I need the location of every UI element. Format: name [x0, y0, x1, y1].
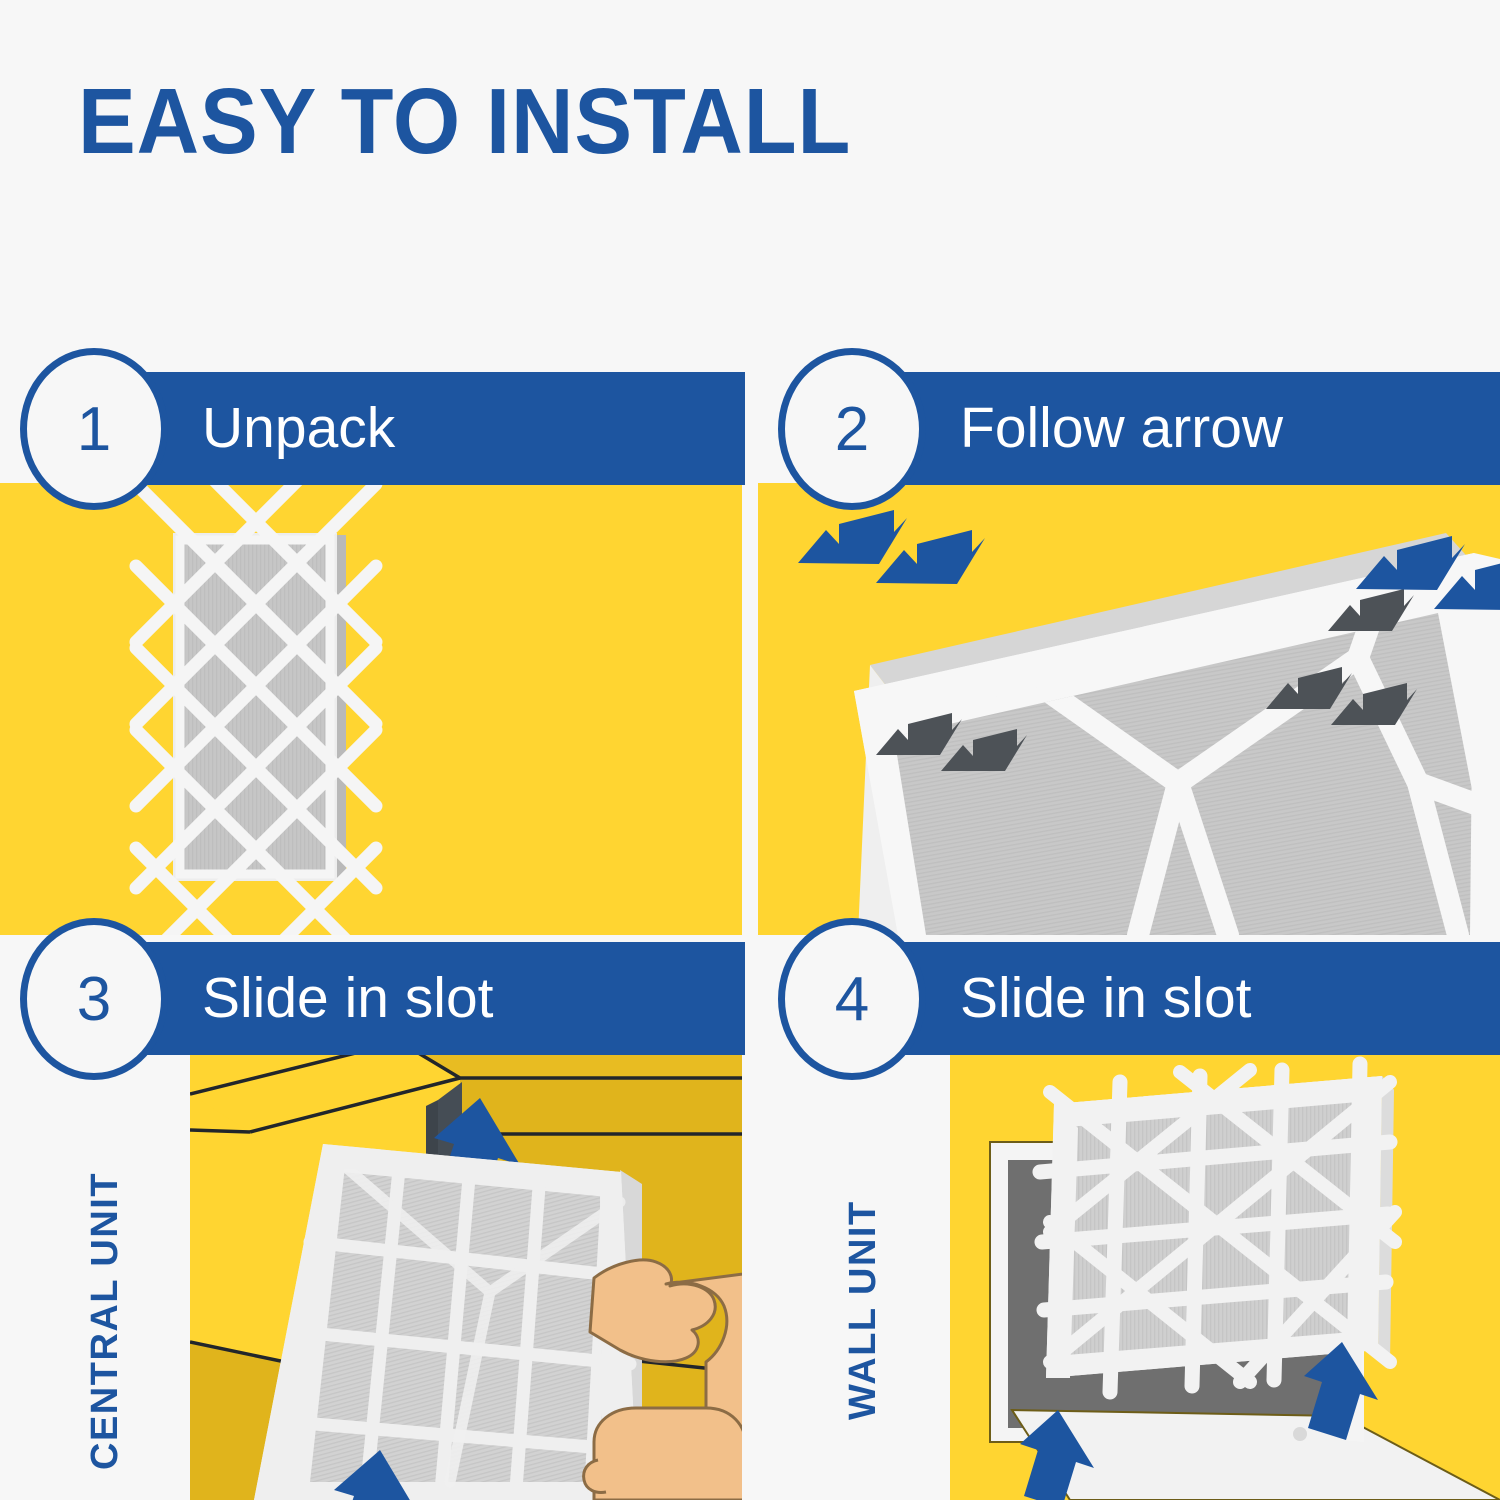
step-4-unit-label: WALL UNIT	[842, 1200, 885, 1420]
wall-unit-svg	[950, 1042, 1500, 1500]
step-3-label: Slide in slot	[202, 970, 494, 1027]
step-1-number: 1	[77, 394, 111, 465]
step-4-header-bar: Slide in slot	[836, 942, 1500, 1055]
step-1-number-badge: 1	[20, 348, 168, 510]
step-4-number: 4	[835, 964, 869, 1035]
central-unit-svg	[190, 1042, 742, 1500]
step-1-label: Unpack	[202, 400, 395, 457]
step-3-illustration	[190, 1042, 742, 1500]
step-2-label: Follow arrow	[960, 400, 1283, 457]
step-4-illustration	[950, 1042, 1500, 1500]
step-3-number: 3	[77, 964, 111, 1035]
step-2-header-bar: Follow arrow	[836, 372, 1500, 485]
hand-lower	[584, 1408, 742, 1500]
step-4-label: Slide in slot	[960, 970, 1252, 1027]
step-3-number-badge: 3	[20, 918, 168, 1080]
step-2-number: 2	[835, 394, 869, 465]
step-2-illustration	[758, 483, 1500, 935]
step-1-illustration	[0, 483, 742, 935]
step-1-header-bar: Unpack	[78, 372, 745, 485]
blue-airflow-arrow-left	[798, 510, 985, 584]
step-4-number-badge: 4	[778, 918, 926, 1080]
step-2-number-badge: 2	[778, 348, 926, 510]
step-3-header-bar: Slide in slot	[78, 942, 745, 1055]
tilted-filter-svg	[758, 483, 1500, 935]
flat-filter-front-svg	[0, 483, 742, 935]
page-title: EASY TO INSTALL	[78, 75, 851, 168]
step-3-unit-label: CENTRAL UNIT	[84, 1172, 127, 1470]
